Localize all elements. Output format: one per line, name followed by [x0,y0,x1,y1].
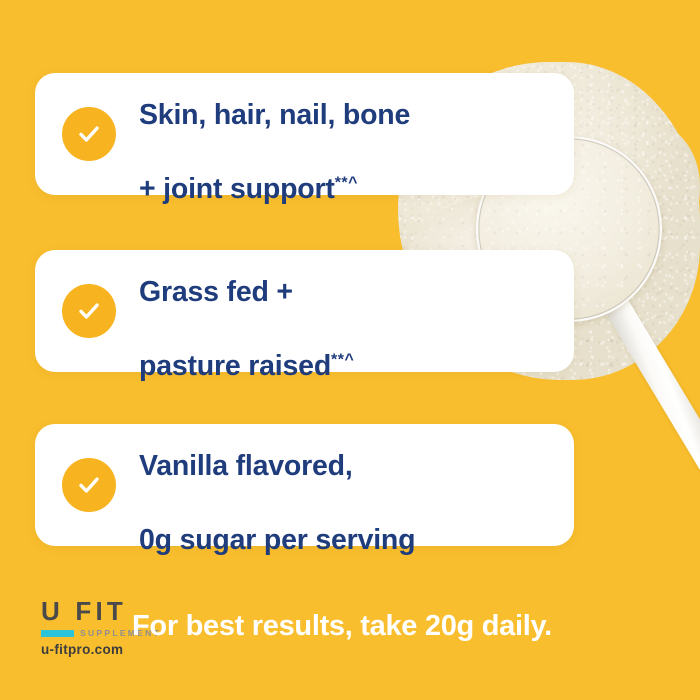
feature-card-1-footnote: **^ [335,175,358,192]
feature-card-3-line2: 0g sugar per serving [139,524,415,556]
feature-card-1-line2: + joint support [139,173,335,205]
feature-card-1-line1: Skin, hair, nail, bone [139,99,410,131]
check-circle-icon [62,458,116,512]
logo-url: u-fitpro.com [41,643,173,657]
tagline: For best results, take 20g daily. [132,611,552,643]
check-circle-icon [62,284,116,338]
promo-graphic: Skin, hair, nail, bone + joint support**… [0,0,700,700]
logo-accent-bar [41,630,74,637]
feature-card-3-text: Vanilla flavored, 0g sugar per serving [139,411,415,559]
feature-card-2-text: Grass fed + pasture raised**^ [139,237,354,385]
feature-card-2-line1: Grass fed + [139,276,293,308]
feature-card-2-footnote: **^ [331,352,354,369]
check-circle-icon [62,107,116,161]
feature-card-2-line2: pasture raised [139,350,331,382]
feature-card-3: Vanilla flavored, 0g sugar per serving [35,424,574,546]
feature-card-1: Skin, hair, nail, bone + joint support**… [35,73,574,195]
powder-wisp [596,120,700,270]
scoop-handle [602,293,700,521]
feature-card-3-line1: Vanilla flavored, [139,450,353,482]
feature-card-1-text: Skin, hair, nail, bone + joint support**… [139,60,410,208]
feature-card-2: Grass fed + pasture raised**^ [35,250,574,372]
